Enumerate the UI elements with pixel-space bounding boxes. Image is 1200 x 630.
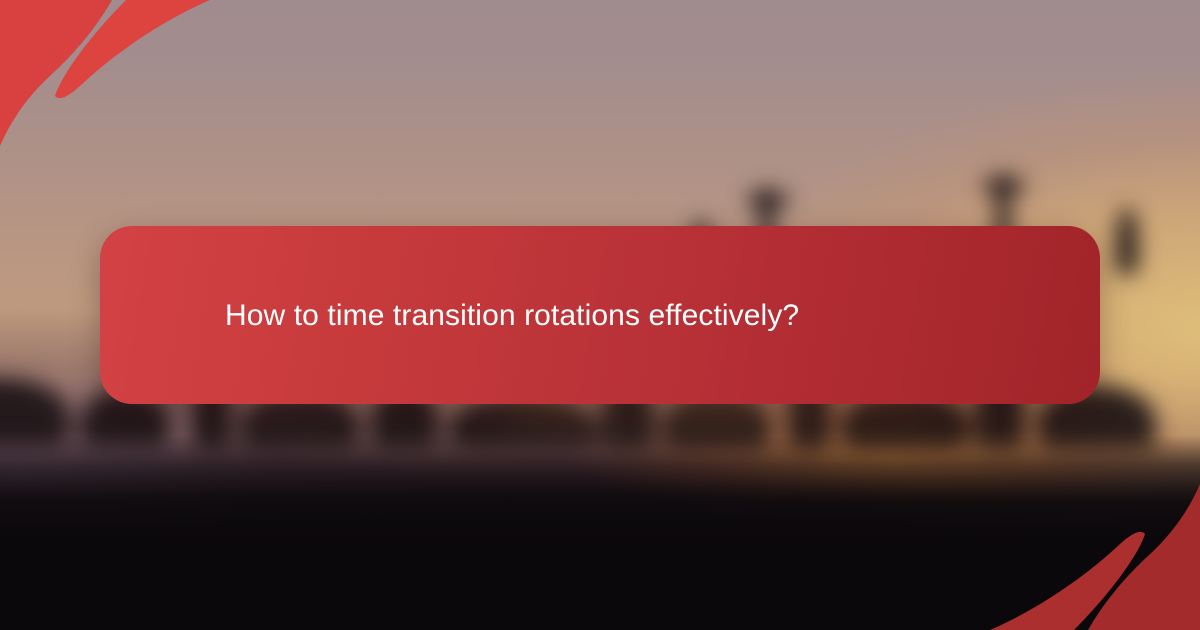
question-card[interactable]: How to time transition rotations effecti… (100, 226, 1100, 404)
question-text: How to time transition rotations effecti… (225, 296, 799, 335)
share-card-canvas: How to time transition rotations effecti… (0, 0, 1200, 630)
